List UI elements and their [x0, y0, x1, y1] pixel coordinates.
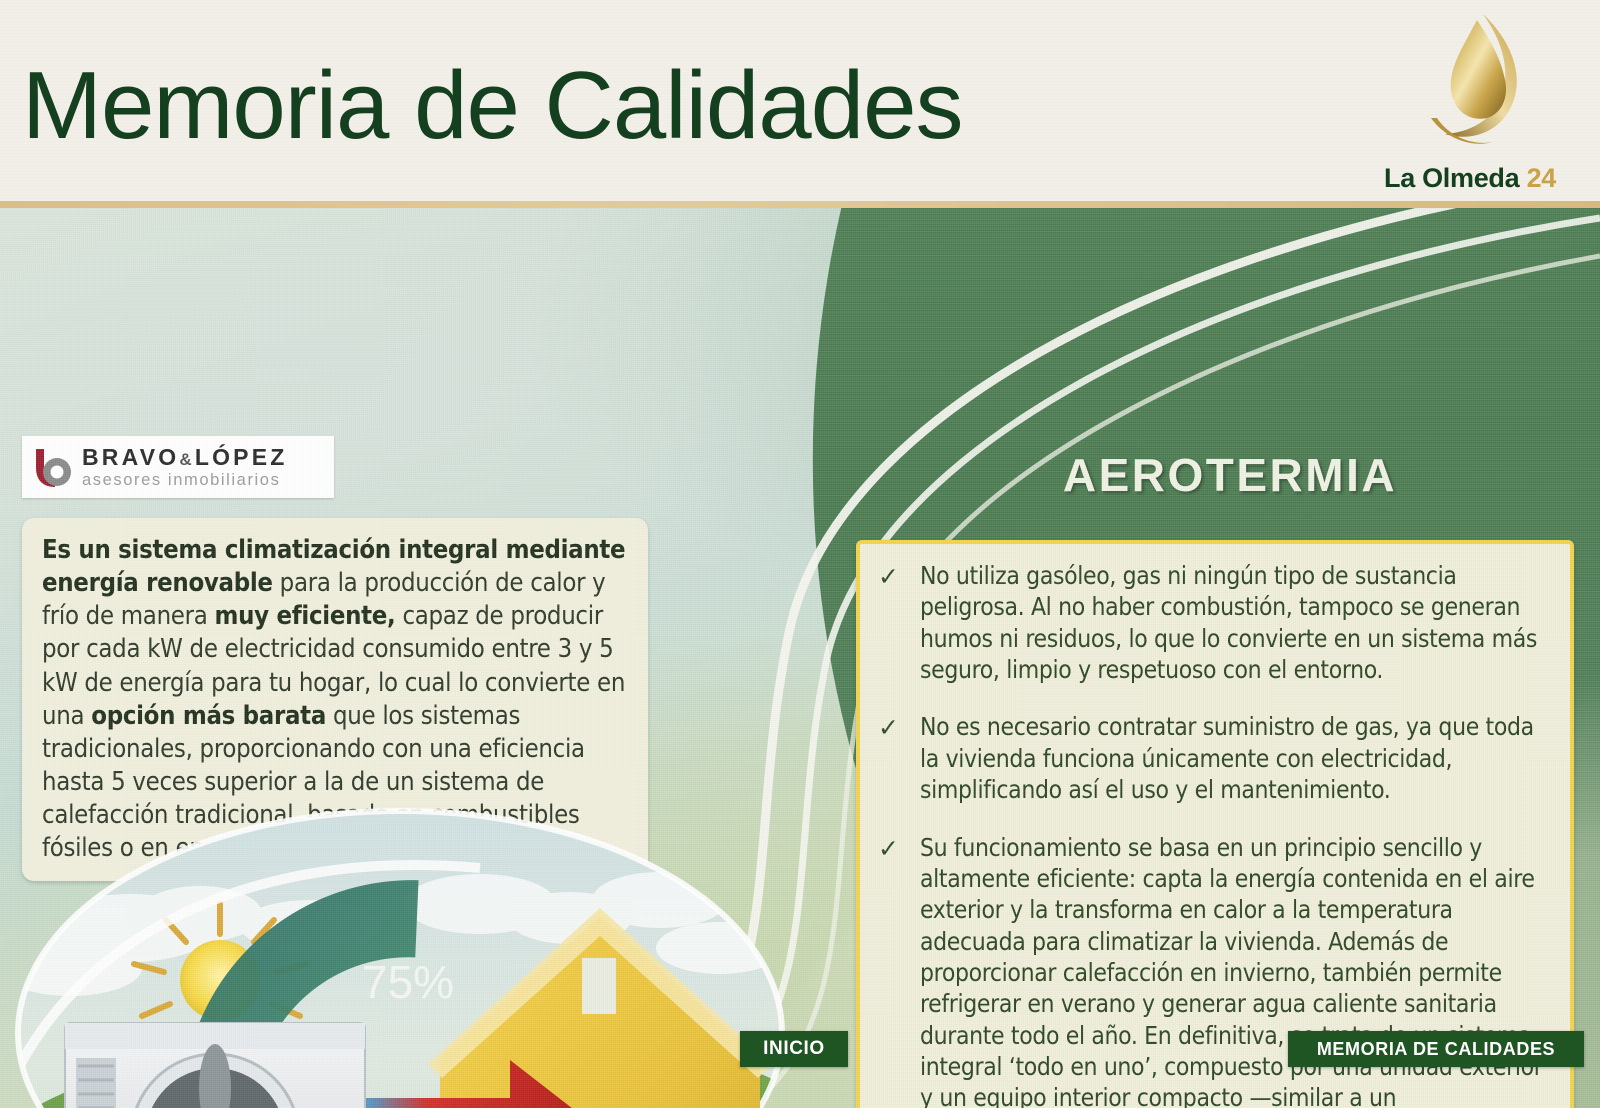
page-header: Memoria de Calidades [0, 0, 1600, 208]
check-icon: ✓ [878, 560, 920, 685]
intro-bold-2: muy eficiente, [215, 601, 396, 631]
partner-logo-tagline: asesores inmobiliarios [82, 472, 288, 489]
partner-logo-line1: BRAVO&LÓPEZ [82, 446, 288, 469]
header-divider [0, 201, 1600, 208]
memoria-de-calidades-button[interactable]: MEMORIA DE CALIDADES [1288, 1031, 1584, 1067]
bravo-lopez-b-icon [30, 446, 76, 488]
slide-body: AEROTERMIA BRAVO&LÓPEZ asesores inmobili… [0, 208, 1600, 1108]
bullet-item: ✓ No utiliza gasóleo, gas ni ningún tipo… [878, 560, 1556, 685]
ampersand: & [179, 450, 194, 469]
efficiency-label: 75% [362, 956, 454, 1008]
page-title: Memoria de Calidades [22, 58, 962, 154]
gold-leaf-flame-icon [1415, 6, 1535, 156]
partner-name-bravo: BRAVO [82, 444, 179, 470]
intro-bold-3: opción más barata [91, 701, 326, 731]
brand-name: La Olmeda 24 [1360, 163, 1580, 194]
bullet-item: ✓ No es necesario contratar suministro d… [878, 711, 1556, 805]
check-icon: ✓ [878, 711, 920, 805]
home-button[interactable]: INICIO [740, 1031, 848, 1067]
bullet-text: No utiliza gasóleo, gas ni ningún tipo d… [920, 560, 1556, 685]
infographic-illustration: 75% [10, 808, 800, 1108]
section-title: AEROTERMIA [880, 448, 1580, 502]
bullet-text: No es necesario contratar suministro de … [920, 711, 1556, 805]
partner-logo-text: BRAVO&LÓPEZ asesores inmobiliarios [82, 446, 288, 489]
partner-logo-card: BRAVO&LÓPEZ asesores inmobiliarios [22, 436, 334, 498]
brand-logo: La Olmeda 24 [1360, 4, 1590, 204]
partner-name-lopez: LÓPEZ [195, 444, 288, 470]
brand-name-text: La Olmeda [1384, 163, 1519, 193]
house-window [582, 958, 616, 1014]
outdoor-heat-pump-unit-icon [65, 1023, 365, 1108]
aerothermal-infographic: 75% [10, 808, 800, 1108]
brand-number: 24 [1527, 163, 1556, 193]
slide-page: Memoria de Calidades [0, 0, 1600, 1108]
benefits-panel: ✓ No utiliza gasóleo, gas ni ningún tipo… [856, 540, 1574, 1108]
check-icon: ✓ [878, 832, 920, 1108]
